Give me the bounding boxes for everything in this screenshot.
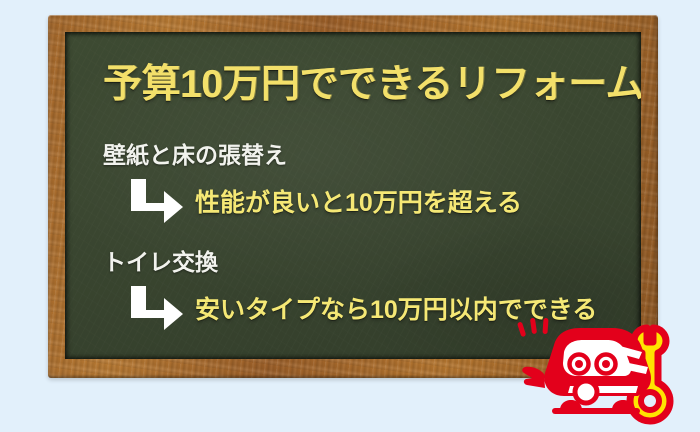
item-callout-row-1: 性能が良いと10万円を超える: [129, 178, 522, 224]
item-callout-1: 性能が良いと10万円を超える: [195, 183, 522, 219]
item-heading-1: 壁紙と床の張替え: [103, 136, 287, 170]
board-title: 予算10万円でできるリフォーム: [103, 53, 641, 109]
board-content: 予算10万円でできるリフォーム 壁紙と床の張替え 性能が良いと10万円を超える …: [65, 32, 641, 359]
item-heading-2: トイレ交換: [103, 243, 218, 277]
screenshot-canvas: 予算10万円でできるリフォーム 壁紙と床の張替え 性能が良いと10万円を超える …: [0, 0, 700, 432]
motion-lines-icon: [517, 318, 549, 338]
chalkboard-surface: 予算10万円でできるリフォーム 壁紙と床の張替え 性能が良いと10万円を超える …: [65, 32, 641, 359]
corner-arrow-right-icon: [129, 178, 185, 224]
corner-arrow-right-icon: [129, 285, 185, 331]
red-van-with-wrench-mascot: [508, 312, 700, 432]
